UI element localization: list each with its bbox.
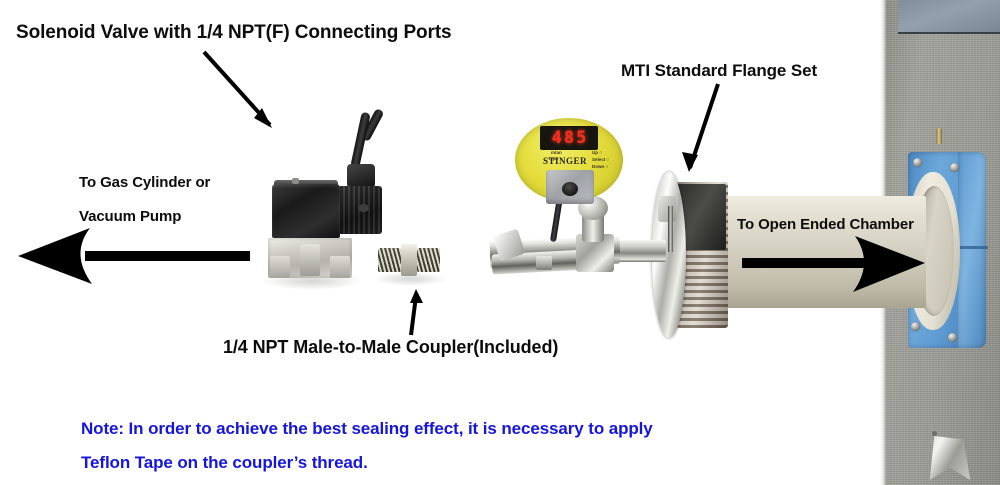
frame-bolt (948, 333, 957, 342)
sensor-port (562, 182, 578, 196)
leader-arrowhead-solenoid (254, 108, 272, 128)
solenoid-cable-gland (347, 164, 375, 188)
gauge-sub-brand-top: mtan (551, 150, 562, 155)
gauge-indicator-select: Select ○ (592, 157, 609, 163)
gas-source-label-line2: Vacuum Pump (79, 208, 181, 225)
gauge-led-display: 4 8 5 (540, 126, 598, 150)
leader-line-solenoid (204, 52, 270, 125)
solenoid-port-left (270, 256, 290, 278)
coupler-hex-body (401, 244, 417, 276)
leader-line-coupler (411, 296, 416, 335)
solenoid-coil (272, 184, 340, 238)
connector-detail (358, 204, 369, 212)
solenoid-port-right (330, 256, 350, 278)
chamber-label: To Open Ended Chamber (737, 216, 914, 233)
npt-coupler (378, 244, 440, 276)
note-line-1: Note: In order to achieve the best seali… (81, 419, 653, 439)
leader-arrowhead-flange (682, 152, 698, 172)
leader-arrowhead-coupler (410, 289, 423, 303)
frame-bolt (950, 163, 959, 172)
title-label: Solenoid Valve with 1/4 NPT(F) Connectin… (16, 22, 452, 44)
furnace-door-hinge[interactable] (958, 152, 986, 348)
led-digit-1: 4 (552, 130, 562, 147)
frame-bolt (911, 322, 920, 331)
solenoid-center-boss (300, 244, 320, 276)
gauge-indicator-down: Down ○ (592, 164, 608, 170)
handle-pin (932, 431, 937, 436)
flange-bolt (668, 206, 673, 252)
flange-label: MTI Standard Flange Set (621, 61, 817, 81)
led-digit-2: 8 (564, 130, 574, 147)
furnace-top-panel (898, 0, 1000, 34)
coupler-label: 1/4 NPT Male-to-Male Coupler(Included) (223, 337, 558, 358)
gas-source-label-line1: To Gas Cylinder or (79, 174, 210, 191)
product-annotation-diagram: 4 8 5 mtan type STINGER Up ○ Select ○ Do… (0, 0, 1000, 485)
chrome-nut (536, 256, 552, 270)
coupler-thread-left (378, 248, 401, 272)
gauge-brand-label: STINGER (543, 156, 587, 166)
arrow-to-gas-source (18, 228, 250, 284)
wall-stud (936, 128, 942, 144)
solenoid-screw (292, 178, 299, 184)
note-line-2: Teflon Tape on the coupler’s thread. (81, 453, 368, 473)
gauge-indicator-up: Up ○ (592, 150, 602, 156)
leader-line-flange (690, 84, 718, 168)
coupler-thread-right (417, 248, 440, 272)
led-digit-3: 5 (576, 130, 586, 147)
frame-bolt (913, 158, 922, 167)
ceramic-tube (718, 196, 926, 308)
flange-clamp (658, 196, 676, 222)
door-seam (958, 246, 988, 249)
